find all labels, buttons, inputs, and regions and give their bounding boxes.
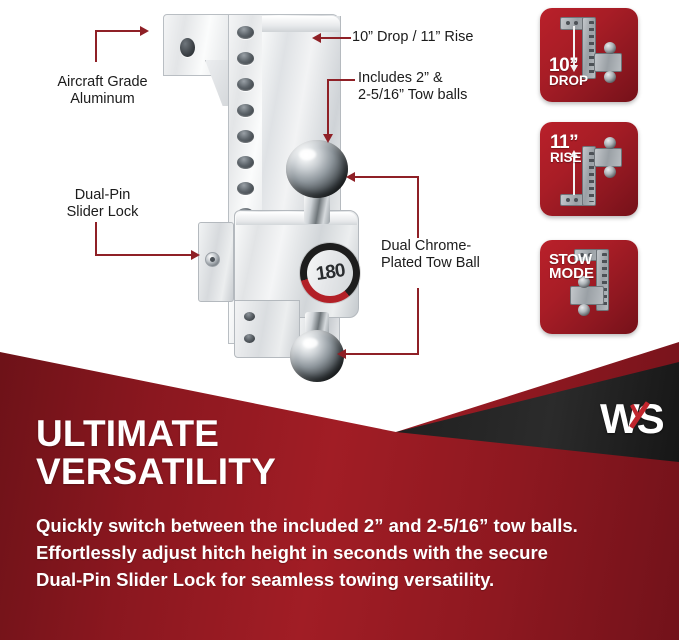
banner-body-copy: Quickly switch between the included 2” a…: [36, 512, 636, 593]
shank-pin-hole: [180, 38, 195, 57]
post-pin-hole: [237, 156, 254, 169]
callout-line: Dual-Pin: [30, 187, 175, 204]
leader-includes-horizontal: [327, 79, 355, 81]
tow-ball-upper: [286, 140, 348, 226]
leader-dualpin-horizontal: [95, 254, 191, 256]
brand-logo: WS: [600, 398, 664, 454]
leader-chrome-vertical-upper: [417, 176, 419, 238]
post-pin-hole: [237, 26, 254, 39]
brand-badge-face: 180: [307, 250, 353, 296]
tow-ball-upper-highlight: [299, 149, 316, 160]
post-pin-hole: [237, 52, 254, 65]
callout-aircraft-grade-aluminum: Aircraft Grade Aluminum: [30, 74, 175, 108]
mode-card-name: RISE: [550, 152, 582, 165]
callout-includes-tow-balls: Includes 2” & 2-5/16” Tow balls: [358, 70, 538, 104]
leader-includes-vertical: [327, 79, 329, 134]
leader-includes-arrowhead: [323, 134, 333, 143]
leader-droprise-horizontal: [321, 37, 351, 39]
tow-ball-upper-sphere: [286, 140, 348, 198]
callout-line: 2-5/16” Tow balls: [358, 87, 538, 104]
headline-line: ULTIMATE: [36, 415, 556, 453]
body-line: Effortlessly adjust hitch height in seco…: [36, 539, 636, 566]
post-pin-hole: [237, 104, 254, 117]
callout-line: 10” Drop / 11” Rise: [352, 29, 542, 46]
callout-line: Aircraft Grade: [30, 74, 175, 91]
leader-chrome-arrowhead-upper: [346, 172, 355, 182]
headline-line: VERSATILITY: [36, 453, 556, 491]
body-line: Dual-Pin Slider Lock for seamless towing…: [36, 566, 636, 593]
post-top-bevel: [262, 16, 340, 32]
slider-lock-pin: [205, 252, 220, 267]
leader-droprise-arrowhead: [312, 33, 321, 43]
leader-aluminum-arrowhead: [140, 26, 149, 36]
leader-chrome-horizontal-upper: [355, 176, 419, 178]
callout-line: Dual Chrome-: [381, 238, 531, 255]
mode-card-stow-label: STOW MODE: [549, 253, 594, 282]
callout-line: Includes 2” &: [358, 70, 538, 87]
body-line: Quickly switch between the included 2” a…: [36, 512, 636, 539]
leader-aluminum-vertical: [95, 30, 97, 62]
brand-badge-text: 180: [314, 260, 345, 286]
callout-drop-rise: 10” Drop / 11” Rise: [352, 29, 542, 46]
lower-block-pin-hole: [244, 312, 255, 321]
mode-card-rise-label: 11” RISE: [550, 134, 582, 165]
infographic-page: 180: [0, 0, 679, 640]
callout-dual-pin-slider-lock: Dual-Pin Slider Lock: [30, 187, 175, 221]
callout-dual-chrome-plated-tow-ball: Dual Chrome- Plated Tow Ball: [381, 238, 531, 272]
post-pin-hole: [237, 130, 254, 143]
banner-headline: ULTIMATE VERSATILITY: [36, 415, 556, 492]
mode-card-stow[interactable]: STOW MODE: [540, 240, 638, 334]
leader-dualpin-vertical: [95, 222, 97, 256]
mode-card-drop[interactable]: 10” DROP: [540, 8, 638, 102]
mode-card-name: DROP: [549, 75, 588, 88]
leader-aluminum-horizontal: [95, 30, 140, 32]
mode-card-drop-label: 10” DROP: [549, 57, 588, 88]
mode-card-name: MODE: [549, 267, 594, 281]
post-pin-hole: [237, 182, 254, 195]
callout-line: Plated Tow Ball: [381, 255, 531, 272]
callout-line: Aluminum: [30, 91, 175, 108]
mode-card-rise[interactable]: 11” RISE: [540, 122, 638, 216]
post-pin-hole: [237, 78, 254, 91]
callout-line: Slider Lock: [30, 204, 175, 221]
leader-dualpin-arrowhead: [191, 250, 200, 260]
